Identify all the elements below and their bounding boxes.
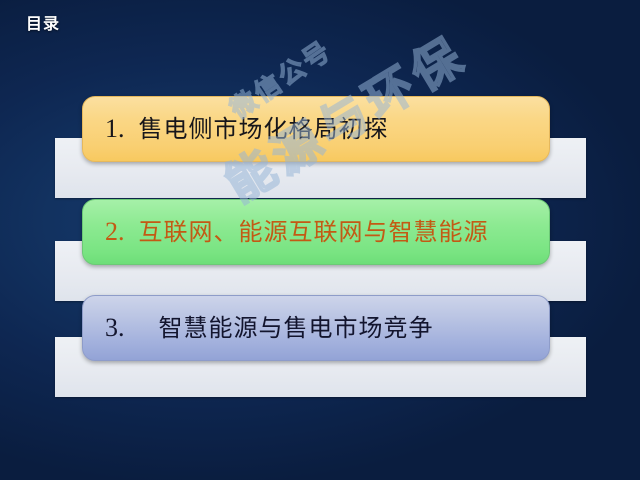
entry-card-2[interactable]: 2. 互联网、能源互联网与智慧能源 bbox=[82, 199, 550, 265]
entry-number-1: 1. bbox=[83, 116, 125, 142]
entry-card-3[interactable]: 3. 智慧能源与售电市场竞争 bbox=[82, 295, 550, 361]
entry-number-2: 2. bbox=[83, 219, 125, 245]
entry-number-3: 3. bbox=[83, 315, 125, 341]
entry-label-1: 售电侧市场化格局初探 bbox=[125, 117, 389, 141]
toc-entry-3[interactable]: 3. 智慧能源与售电市场竞争 bbox=[0, 295, 640, 405]
toc-entry-1[interactable]: 1. 售电侧市场化格局初探 bbox=[0, 96, 640, 206]
entry-label-3: 智慧能源与售电市场竞争 bbox=[125, 316, 434, 340]
entry-card-1[interactable]: 1. 售电侧市场化格局初探 bbox=[82, 96, 550, 162]
toc-entry-2[interactable]: 2. 互联网、能源互联网与智慧能源 bbox=[0, 199, 640, 309]
entry-label-2: 互联网、能源互联网与智慧能源 bbox=[125, 220, 489, 244]
page-title: 目录 bbox=[26, 16, 60, 32]
slide-canvas: 目录 1. 售电侧市场化格局初探 2. 互联网、能源互联网与智慧能源 3. 智慧… bbox=[0, 0, 640, 480]
